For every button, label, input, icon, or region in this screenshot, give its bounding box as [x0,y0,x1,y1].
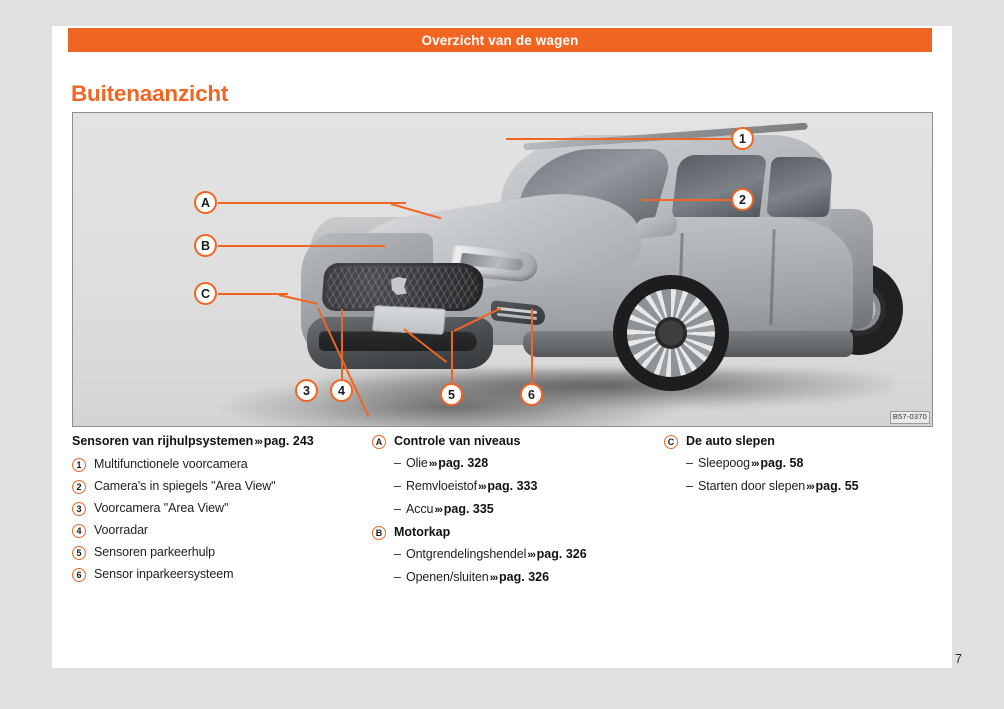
vehicle-artwork [223,125,923,415]
marker-4: 4 [72,524,86,538]
callout-marker-1[interactable]: 1 [731,127,754,150]
dash-bullet: – [394,570,401,585]
dash-bullet: – [394,547,401,562]
page-ref: pag. 335 [444,502,494,516]
callout-marker-2[interactable]: 2 [731,188,754,211]
callout-marker-c[interactable]: C [194,282,217,305]
legend-column-left: Sensoren van rijhulpsystemen›››pag. 243 … [72,434,372,604]
leader-line-5a [451,331,453,383]
leader-line-6 [531,309,533,383]
chevron-icon: ››› [477,481,487,493]
legend-group-title: Controle van niveaus [394,434,520,449]
list-item[interactable]: 2 Camera's in spiegels "Area View" [72,479,372,494]
dash-bullet: – [686,479,693,494]
list-item[interactable]: – Starten door slepen›››pag. 55 [664,479,933,495]
leader-line-c [218,293,288,295]
dash-bullet: – [394,456,401,471]
list-item-label: Accu›››pag. 335 [406,502,494,518]
leader-line-4 [341,309,343,379]
callout-marker-a[interactable]: A [194,191,217,214]
list-item-label: Camera's in spiegels "Area View" [94,479,276,494]
callout-marker-3[interactable]: 3 [295,379,318,402]
leader-line-b [218,245,385,247]
chevron-icon: ››› [253,436,263,448]
list-item-label: Multifunctionele voorcamera [94,457,248,472]
illustration-canvas: 1 2 A B C 3 4 5 6 B57-0370 [73,113,932,426]
list-item[interactable]: – Sleepoog›››pag. 58 [664,456,933,472]
ground-shadow [313,369,893,409]
list-item[interactable]: 1 Multifunctionele voorcamera [72,457,372,472]
list-item-label: Sensoren parkeerhulp [94,545,215,560]
page-number: 7 [955,652,962,666]
legend-group-heading-c: C De auto slepen [664,434,933,449]
list-item[interactable]: 5 Sensoren parkeerhulp [72,545,372,560]
legend-left-title-text: Sensoren van rijhulpsystemen [72,434,253,448]
vehicle-illustration: 1 2 A B C 3 4 5 6 B57-0370 [72,112,933,427]
list-item-text: Starten door slepen [698,479,805,493]
dash-bullet: – [394,479,401,494]
list-item-label: Voorcamera "Area View" [94,501,228,516]
list-item-label: Starten door slepen›››pag. 55 [698,479,859,495]
list-item-label: Ontgrendelingshendel›››pag. 326 [406,547,587,563]
chevron-icon: ››› [428,458,438,470]
legend-left-title-ref: pag. 243 [264,434,314,448]
list-item[interactable]: 3 Voorcamera "Area View" [72,501,372,516]
list-item-text: Accu [406,502,433,516]
page-ref: pag. 326 [499,570,549,584]
legend-column-middle: A Controle van niveaus – Olie›››pag. 328… [372,434,664,604]
marker-b: B [372,526,386,540]
page-ref: pag. 58 [760,456,803,470]
page-ref: pag. 326 [537,547,587,561]
dash-bullet: – [686,456,693,471]
front-side-window [671,155,767,221]
leader-line-a [218,202,406,204]
list-item-label: Voorradar [94,523,148,538]
dash-bullet: – [394,502,401,517]
list-item-text: Ontgrendelingshendel [406,547,526,561]
list-item-label: Remvloeistof›››pag. 333 [406,479,537,495]
legend-group-heading-b: B Motorkap [372,525,664,540]
legend-group-heading-a: A Controle van niveaus [372,434,664,449]
licence-plate [372,305,446,335]
legend-group-title: Motorkap [394,525,450,540]
marker-5: 5 [72,546,86,560]
list-item-label: Sleepoog›››pag. 58 [698,456,804,472]
list-item-text: Remvloeistof [406,479,477,493]
chevron-icon: ››› [433,504,443,516]
list-item[interactable]: – Openen/sluiten›››pag. 326 [372,570,664,586]
page-ref: pag. 55 [816,479,859,493]
running-head-title: Overzicht van de wagen [421,33,578,48]
page-ref: pag. 328 [438,456,488,470]
callout-marker-5[interactable]: 5 [440,383,463,406]
page-ref: pag. 333 [487,479,537,493]
leader-line-2 [641,199,736,201]
list-item[interactable]: 4 Voorradar [72,523,372,538]
rear-side-window [766,157,833,217]
list-item[interactable]: 6 Sensor inparkeersysteem [72,567,372,582]
list-item-text: Sleepoog [698,456,750,470]
marker-1: 1 [72,458,86,472]
chevron-icon: ››› [805,481,815,493]
list-item[interactable]: – Accu›››pag. 335 [372,502,664,518]
marker-3: 3 [72,502,86,516]
leader-line-1 [506,138,736,140]
page-title: Buitenaanzicht [71,81,228,107]
list-item-label: Openen/sluiten›››pag. 326 [406,570,549,586]
callout-marker-b[interactable]: B [194,234,217,257]
asset-code-label: B57-0370 [890,411,930,424]
legend-column-right: C De auto slepen – Sleepoog›››pag. 58 – … [664,434,933,604]
callout-marker-4[interactable]: 4 [330,379,353,402]
list-item-text: Olie [406,456,428,470]
list-item[interactable]: – Ontgrendelingshendel›››pag. 326 [372,547,664,563]
chevron-icon: ››› [489,572,499,584]
list-item[interactable]: – Remvloeistof›››pag. 333 [372,479,664,495]
list-item-text: Openen/sluiten [406,570,489,584]
legend: Sensoren van rijhulpsystemen›››pag. 243 … [72,434,933,604]
callout-marker-6[interactable]: 6 [520,383,543,406]
running-head-bar: Overzicht van de wagen [68,28,932,52]
marker-c: C [664,435,678,449]
marker-2: 2 [72,480,86,494]
marker-a: A [372,435,386,449]
legend-group-title: De auto slepen [686,434,775,449]
marker-6: 6 [72,568,86,582]
list-item-label: Sensor inparkeersysteem [94,567,233,582]
chevron-icon: ››› [750,458,760,470]
chevron-icon: ››› [526,549,536,561]
legend-left-title: Sensoren van rijhulpsystemen›››pag. 243 [72,434,372,450]
list-item-label: Olie›››pag. 328 [406,456,488,472]
wheel-front-hub [655,317,687,349]
list-item[interactable]: – Olie›››pag. 328 [372,456,664,472]
